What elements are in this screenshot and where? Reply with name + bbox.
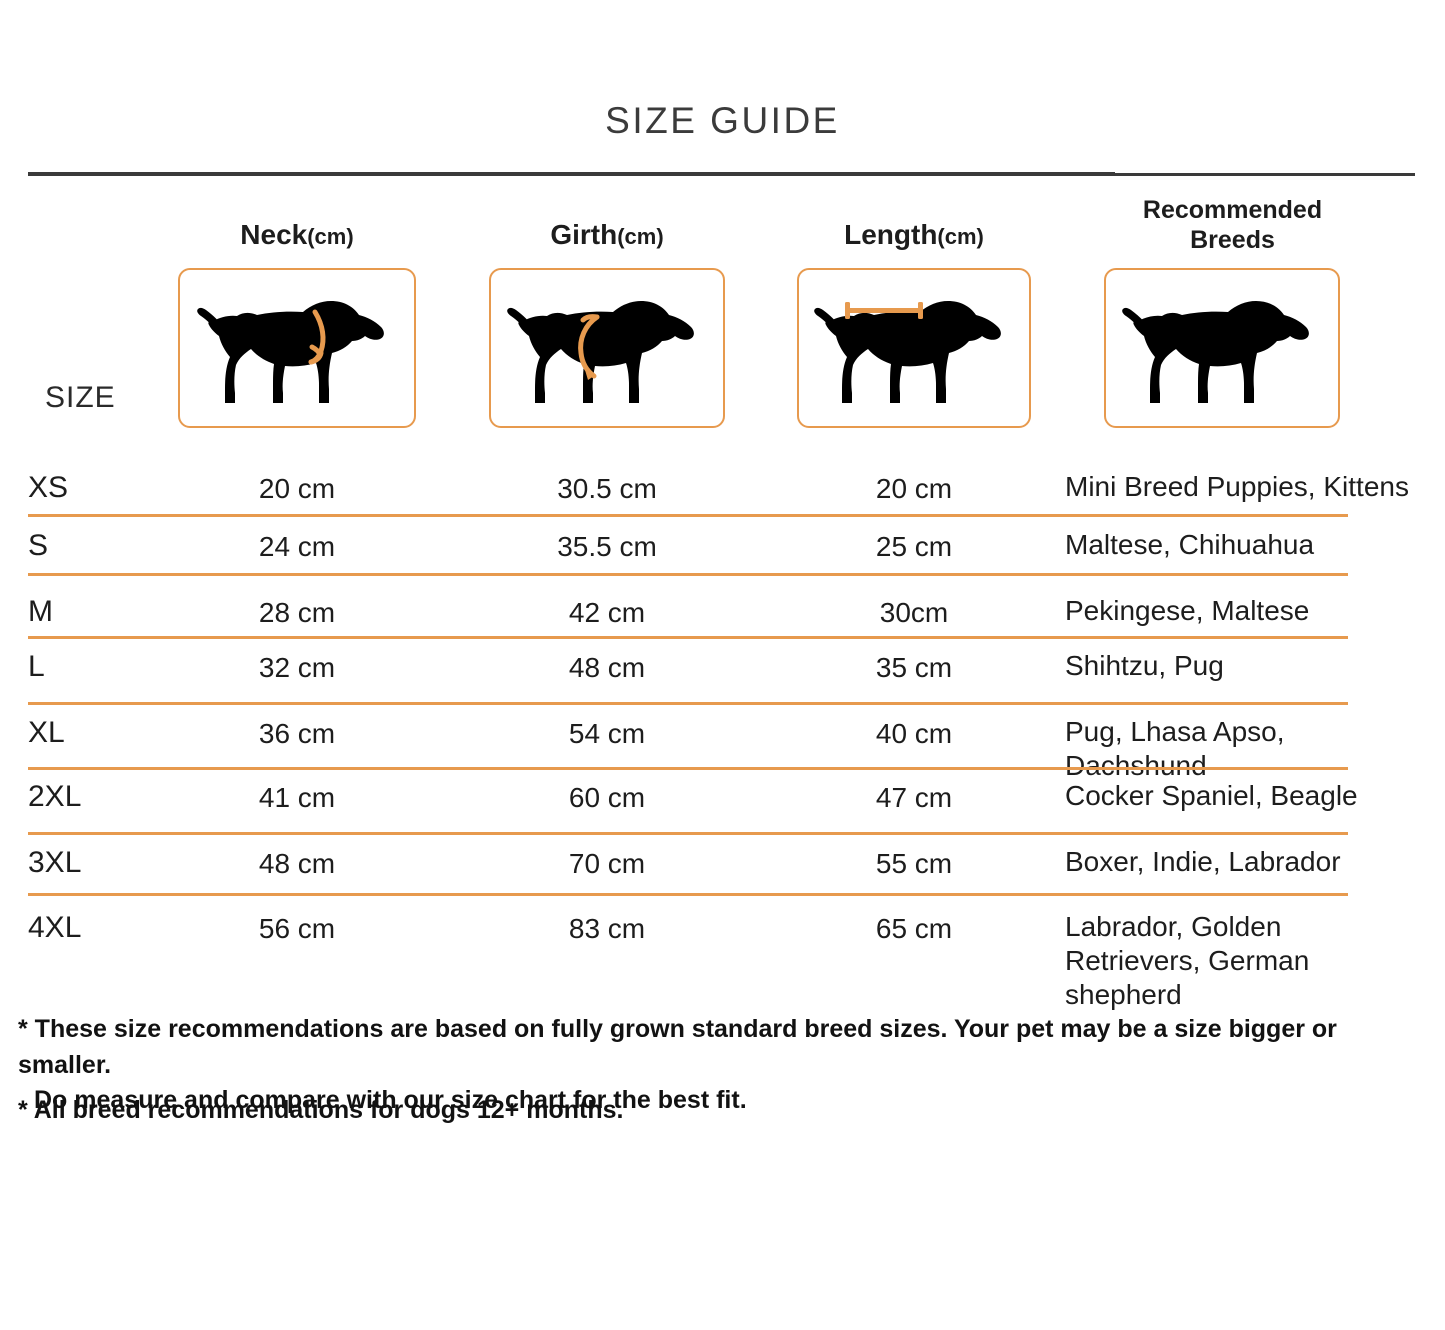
row-divider: [28, 832, 1348, 835]
column-header-neck: Neck(cm): [178, 218, 416, 251]
cell-size: 3XL: [28, 845, 178, 882]
cell-girth: 42 cm: [488, 596, 726, 630]
cell-neck: 36 cm: [178, 717, 416, 751]
cell-breeds: Pug, Lhasa Apso, Dachshund: [1065, 715, 1430, 783]
length-illustration-box: [797, 268, 1031, 428]
cell-neck: 28 cm: [178, 596, 416, 630]
cell-length: 40 cm: [795, 717, 1033, 751]
neck-illustration-box: [178, 268, 416, 428]
row-divider: [28, 514, 1348, 517]
header-rule-right: [1115, 173, 1415, 176]
column-header-neck-label: Neck: [240, 219, 307, 250]
column-header-length-label: Length: [844, 219, 937, 250]
cell-girth: 83 cm: [488, 912, 726, 946]
dog-silhouette-icon: [1120, 281, 1325, 416]
row-divider: [28, 702, 1348, 705]
cell-breeds: Maltese, Chihuahua: [1065, 528, 1430, 562]
dog-length-measure-icon: [812, 281, 1017, 416]
cell-breeds: Shihtzu, Pug: [1065, 649, 1430, 683]
cell-length: 65 cm: [795, 912, 1033, 946]
page-title: SIZE GUIDE: [0, 100, 1445, 142]
cell-neck: 32 cm: [178, 651, 416, 685]
cell-girth: 30.5 cm: [488, 472, 726, 506]
row-divider: [28, 893, 1348, 896]
cell-breeds: Cocker Spaniel, Beagle: [1065, 779, 1430, 813]
cell-length: 55 cm: [795, 847, 1033, 881]
cell-neck: 56 cm: [178, 912, 416, 946]
column-header-girth-unit: (cm): [617, 224, 663, 249]
row-divider: [28, 636, 1348, 639]
cell-size: 4XL: [28, 910, 178, 947]
dog-girth-measure-icon: [505, 281, 710, 416]
column-header-breeds-line2: Breeds: [1190, 226, 1275, 254]
column-header-neck-unit: (cm): [307, 224, 353, 249]
cell-length: 35 cm: [795, 651, 1033, 685]
column-header-length: Length(cm): [795, 218, 1033, 251]
footnote-sizing-line1: * These size recommendations are based o…: [18, 1015, 1337, 1079]
cell-size: XS: [28, 470, 178, 507]
size-guide-page: SIZE GUIDE Neck(cm) Girth(cm) Length(cm)…: [0, 0, 1445, 1330]
header-rule-left: [28, 172, 1115, 176]
cell-neck: 41 cm: [178, 781, 416, 815]
cell-breeds: Labrador, Golden Retrievers, German shep…: [1065, 910, 1415, 1012]
cell-girth: 54 cm: [488, 717, 726, 751]
column-header-girth: Girth(cm): [488, 218, 726, 251]
cell-length: 30cm: [795, 596, 1033, 630]
footnote-age: * All breed recommendations for dogs 12+…: [18, 1093, 1428, 1129]
column-header-size: SIZE: [45, 381, 116, 415]
cell-breeds: Pekingese, Maltese: [1065, 594, 1430, 628]
cell-neck: 48 cm: [178, 847, 416, 881]
cell-girth: 48 cm: [488, 651, 726, 685]
cell-girth: 35.5 cm: [488, 530, 726, 564]
cell-breeds: Boxer, Indie, Labrador: [1065, 845, 1430, 879]
breeds-illustration-box: [1104, 268, 1340, 428]
cell-size: S: [28, 528, 178, 565]
cell-length: 47 cm: [795, 781, 1033, 815]
cell-size: L: [28, 649, 178, 686]
dog-neck-measure-icon: [195, 281, 400, 416]
column-header-length-unit: (cm): [937, 224, 983, 249]
cell-neck: 24 cm: [178, 530, 416, 564]
column-header-breeds: Recommended Breeds: [1105, 196, 1360, 255]
cell-neck: 20 cm: [178, 472, 416, 506]
cell-girth: 60 cm: [488, 781, 726, 815]
girth-illustration-box: [489, 268, 725, 428]
row-divider: [28, 573, 1348, 576]
row-divider: [28, 767, 1348, 770]
cell-length: 20 cm: [795, 472, 1033, 506]
cell-size: XL: [28, 715, 178, 752]
cell-breeds: Mini Breed Puppies, Kittens: [1065, 470, 1430, 504]
cell-size: 2XL: [28, 779, 178, 816]
column-header-breeds-line1: Recommended: [1143, 196, 1322, 224]
cell-girth: 70 cm: [488, 847, 726, 881]
column-header-girth-label: Girth: [550, 219, 617, 250]
cell-length: 25 cm: [795, 530, 1033, 564]
cell-size: M: [28, 594, 178, 631]
